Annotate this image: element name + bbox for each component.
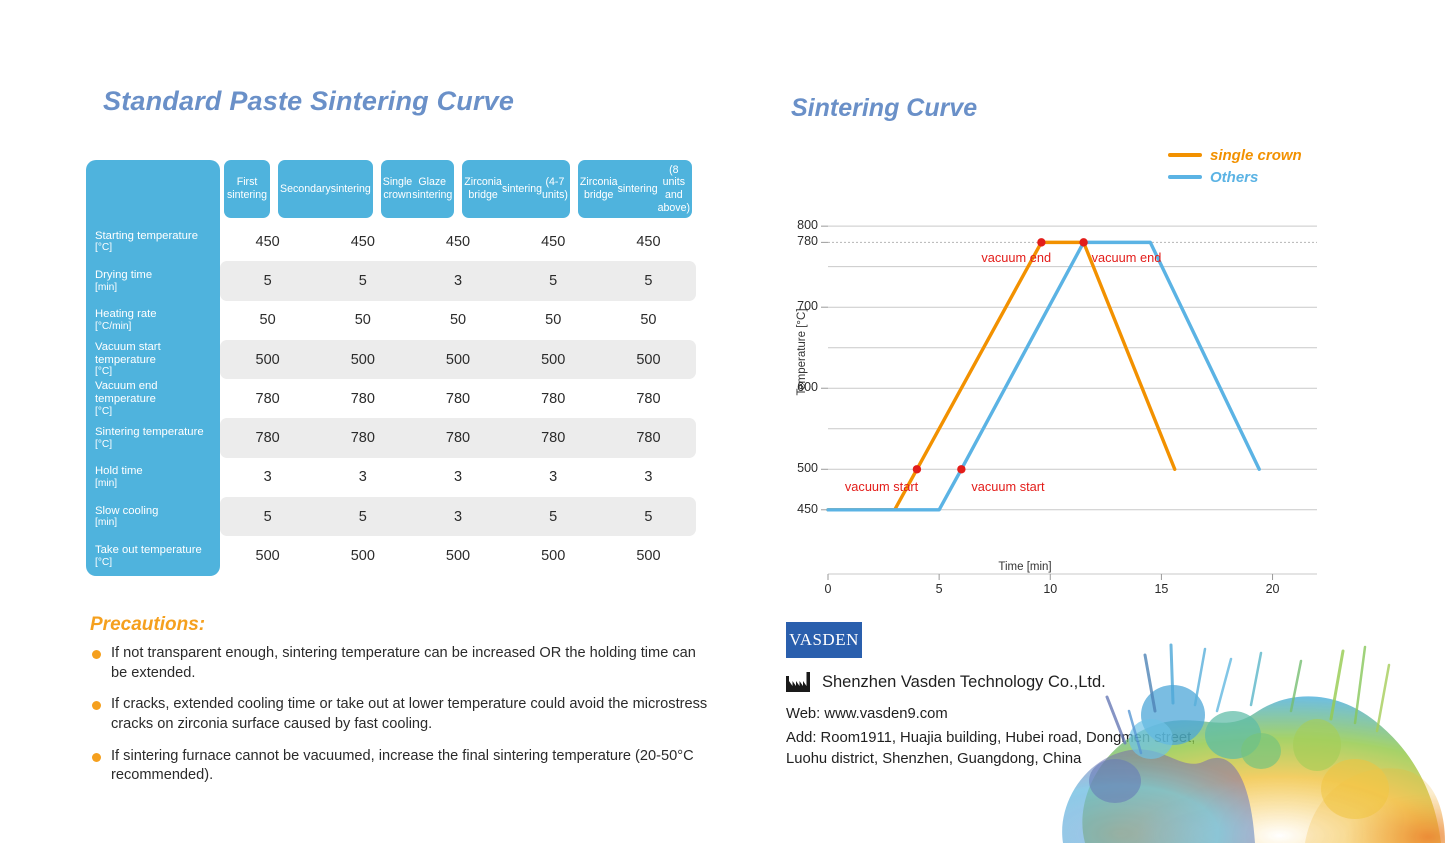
table-cell: 780 bbox=[315, 430, 410, 446]
table-cell: 780 bbox=[601, 391, 696, 407]
table-row: 5050505050 bbox=[220, 301, 696, 340]
table-cell: 780 bbox=[410, 430, 505, 446]
table-row-label: Hold time[min] bbox=[86, 458, 220, 497]
table-row-label: Starting temperature[°C] bbox=[86, 222, 220, 261]
table-cell: 780 bbox=[506, 391, 601, 407]
table-cell: 3 bbox=[410, 273, 505, 289]
table-cell: 5 bbox=[315, 509, 410, 525]
table-cell: 500 bbox=[601, 548, 696, 564]
table-column-header: Single crownGlaze sintering bbox=[381, 160, 455, 218]
table-row-label-name: Drying time bbox=[95, 269, 220, 282]
precaution-item: If sintering furnace cannot be vacuumed,… bbox=[92, 747, 712, 786]
table-row-label-unit: [°C] bbox=[95, 366, 220, 377]
chart-x-tick-label: 5 bbox=[919, 582, 959, 596]
table-row-label-unit: [min] bbox=[95, 478, 220, 489]
table-row-label: Heating rate[°C/min] bbox=[86, 301, 220, 340]
company-website: Web: www.vasden9.com bbox=[786, 706, 948, 722]
chart-y-tick-label: 700 bbox=[772, 299, 818, 313]
precaution-text: If sintering furnace cannot be vacuumed,… bbox=[111, 747, 712, 786]
table-row-label: Vacuum start temperature[°C] bbox=[86, 340, 220, 379]
chart-x-tick-label: 15 bbox=[1141, 582, 1181, 596]
table-row-label-name: Sintering temperature bbox=[95, 426, 220, 439]
legend-swatch-single-crown bbox=[1168, 153, 1202, 157]
table-row-label-unit: [°C] bbox=[95, 439, 220, 450]
table-cell: 780 bbox=[220, 391, 315, 407]
table-cell: 780 bbox=[315, 391, 410, 407]
bullet-icon bbox=[92, 650, 101, 659]
legend-swatch-others bbox=[1168, 175, 1202, 179]
company-address-line2: Luohu district, Shenzhen, Guangdong, Chi… bbox=[786, 751, 1081, 767]
chart-annotation-marker bbox=[957, 465, 965, 473]
table-row: 780780780780780 bbox=[220, 418, 696, 457]
table-cell: 50 bbox=[601, 312, 696, 328]
table-row: 450450450450450 bbox=[220, 222, 696, 261]
table-cell: 450 bbox=[315, 234, 410, 250]
table-cell: 500 bbox=[315, 352, 410, 368]
company-name: Shenzhen Vasden Technology Co.,Ltd. bbox=[822, 673, 1106, 692]
table-cell: 500 bbox=[506, 548, 601, 564]
table-cell: 3 bbox=[506, 469, 601, 485]
table-row-label-unit: [min] bbox=[95, 282, 220, 293]
table-row: 33333 bbox=[220, 458, 696, 497]
table-cell: 450 bbox=[506, 234, 601, 250]
table-column-header: Secondarysintering bbox=[278, 160, 373, 218]
table-cell: 450 bbox=[601, 234, 696, 250]
table-row-label: Vacuum end temperature[°C] bbox=[86, 379, 220, 418]
legend-item-others: Others bbox=[1168, 166, 1302, 188]
vasden-logo: VASDEN bbox=[786, 622, 862, 658]
precaution-text: If not transparent enough, sintering tem… bbox=[111, 644, 712, 683]
precaution-item: If cracks, extended cooling time or take… bbox=[92, 695, 712, 734]
table-cell: 500 bbox=[601, 352, 696, 368]
chart-annotation-marker bbox=[1037, 238, 1045, 246]
table-cell: 780 bbox=[220, 430, 315, 446]
chart-y-tick-label: 800 bbox=[772, 218, 818, 232]
table-row: 500500500500500 bbox=[220, 536, 696, 575]
table-cell: 5 bbox=[220, 273, 315, 289]
table-cell: 500 bbox=[315, 548, 410, 564]
bullet-icon bbox=[92, 701, 101, 710]
table-row-label-unit: [°C] bbox=[95, 242, 220, 253]
legend-item-single-crown: single crown bbox=[1168, 144, 1302, 166]
chart-annotation-label: vacuum start bbox=[845, 479, 918, 494]
table-row-label-name: Vacuum end temperature bbox=[95, 380, 220, 405]
table-row-label-name: Take out temperature bbox=[95, 544, 220, 557]
table-row-label-unit: [°C] bbox=[95, 406, 220, 417]
table-cell: 3 bbox=[220, 469, 315, 485]
table-cell: 50 bbox=[220, 312, 315, 328]
table-cell: 50 bbox=[506, 312, 601, 328]
precaution-text: If cracks, extended cooling time or take… bbox=[111, 695, 712, 734]
table-cell: 780 bbox=[506, 430, 601, 446]
table-cell: 50 bbox=[410, 312, 505, 328]
table-row-label-column: Starting temperature[°C]Drying time[min]… bbox=[86, 160, 220, 576]
table-row: 780780780780780 bbox=[220, 379, 696, 418]
table-row-label-name: Vacuum start temperature bbox=[95, 341, 220, 366]
table-cell: 5 bbox=[601, 509, 696, 525]
table-cell: 3 bbox=[410, 469, 505, 485]
table-column-headers: First sinteringSecondarysinteringSingle … bbox=[220, 160, 696, 222]
chart-annotation-label: vacuum end bbox=[981, 250, 1051, 265]
table-row-label-name: Hold time bbox=[95, 465, 220, 478]
table-cell: 5 bbox=[506, 273, 601, 289]
table-cell: 500 bbox=[410, 548, 505, 564]
legend-label-others: Others bbox=[1210, 169, 1258, 186]
chart-annotation-label: vacuum end bbox=[1092, 250, 1162, 265]
sintering-curve-chart: Temperature [°C] Time [min] 800780700600… bbox=[770, 196, 1330, 586]
table-row-label-name: Slow cooling bbox=[95, 505, 220, 518]
vasden-logo-text: VASDEN bbox=[789, 630, 859, 650]
table-cell: 3 bbox=[601, 469, 696, 485]
chart-x-tick-label: 10 bbox=[1030, 582, 1070, 596]
table-row-label: Sintering temperature[°C] bbox=[86, 418, 220, 457]
left-panel-title: Standard Paste Sintering Curve bbox=[103, 86, 514, 117]
table-row-label-name: Starting temperature bbox=[95, 230, 220, 243]
table-cell: 500 bbox=[220, 352, 315, 368]
sintering-parameters-table: Starting temperature[°C]Drying time[min]… bbox=[86, 160, 696, 576]
table-row-label-unit: [°C] bbox=[95, 557, 220, 568]
table-cell: 450 bbox=[410, 234, 505, 250]
table-row-label-unit: [°C/min] bbox=[95, 321, 220, 332]
company-address-line1: Add: Room1911, Huajia building, Hubei ro… bbox=[786, 730, 1195, 746]
chart-title: Sintering Curve bbox=[791, 94, 977, 123]
table-cell: 500 bbox=[410, 352, 505, 368]
table-label-column-header-spacer bbox=[86, 160, 220, 222]
table-row-label: Slow cooling[min] bbox=[86, 497, 220, 536]
table-cell: 5 bbox=[315, 273, 410, 289]
table-cell: 3 bbox=[410, 509, 505, 525]
watercolor-splash-decoration bbox=[1055, 593, 1445, 843]
table-row-label: Drying time[min] bbox=[86, 261, 220, 300]
table-row-label-unit: [min] bbox=[95, 517, 220, 528]
chart-annotation-marker bbox=[913, 465, 921, 473]
precaution-item: If not transparent enough, sintering tem… bbox=[92, 644, 712, 683]
table-row: 55355 bbox=[220, 497, 696, 536]
table-cell: 780 bbox=[410, 391, 505, 407]
table-cell: 5 bbox=[506, 509, 601, 525]
bullet-icon bbox=[92, 753, 101, 762]
chart-y-tick-label: 600 bbox=[772, 380, 818, 394]
table-row: 500500500500500 bbox=[220, 340, 696, 379]
table-cell: 500 bbox=[220, 548, 315, 564]
precautions-title: Precautions: bbox=[90, 614, 205, 636]
table-cell: 5 bbox=[601, 273, 696, 289]
table-column-header: First sintering bbox=[224, 160, 270, 218]
table-cell: 50 bbox=[315, 312, 410, 328]
table-column-header: Zirconia bridgesintering(4-7 units) bbox=[462, 160, 570, 218]
chart-annotation-label: vacuum start bbox=[971, 479, 1044, 494]
company-name-row: Shenzhen Vasden Technology Co.,Ltd. bbox=[786, 672, 1106, 692]
table-cell: 450 bbox=[220, 234, 315, 250]
chart-y-tick-label: 450 bbox=[772, 502, 818, 516]
poster-page: Standard Paste Sintering Curve Starting … bbox=[0, 0, 1445, 843]
chart-y-tick-label: 500 bbox=[772, 461, 818, 475]
table-row-label-name: Heating rate bbox=[95, 308, 220, 321]
precautions-list: If not transparent enough, sintering tem… bbox=[92, 644, 712, 798]
factory-icon bbox=[786, 672, 812, 692]
table-cell: 500 bbox=[506, 352, 601, 368]
table-row: 55355 bbox=[220, 261, 696, 300]
table-data-columns: First sinteringSecondarysinteringSingle … bbox=[220, 160, 696, 576]
legend-label-single-crown: single crown bbox=[1210, 147, 1302, 164]
table-cell: 3 bbox=[315, 469, 410, 485]
table-cell: 780 bbox=[601, 430, 696, 446]
table-cell: 5 bbox=[220, 509, 315, 525]
table-column-header: Zirconia bridgesintering(8 units and abo… bbox=[578, 160, 692, 218]
chart-annotation-marker bbox=[1079, 238, 1087, 246]
table-row-label: Take out temperature[°C] bbox=[86, 536, 220, 575]
chart-x-tick-label: 0 bbox=[808, 582, 848, 596]
chart-legend: single crown Others bbox=[1168, 144, 1302, 188]
chart-x-tick-label: 20 bbox=[1253, 582, 1293, 596]
chart-y-tick-label: 780 bbox=[772, 234, 818, 248]
